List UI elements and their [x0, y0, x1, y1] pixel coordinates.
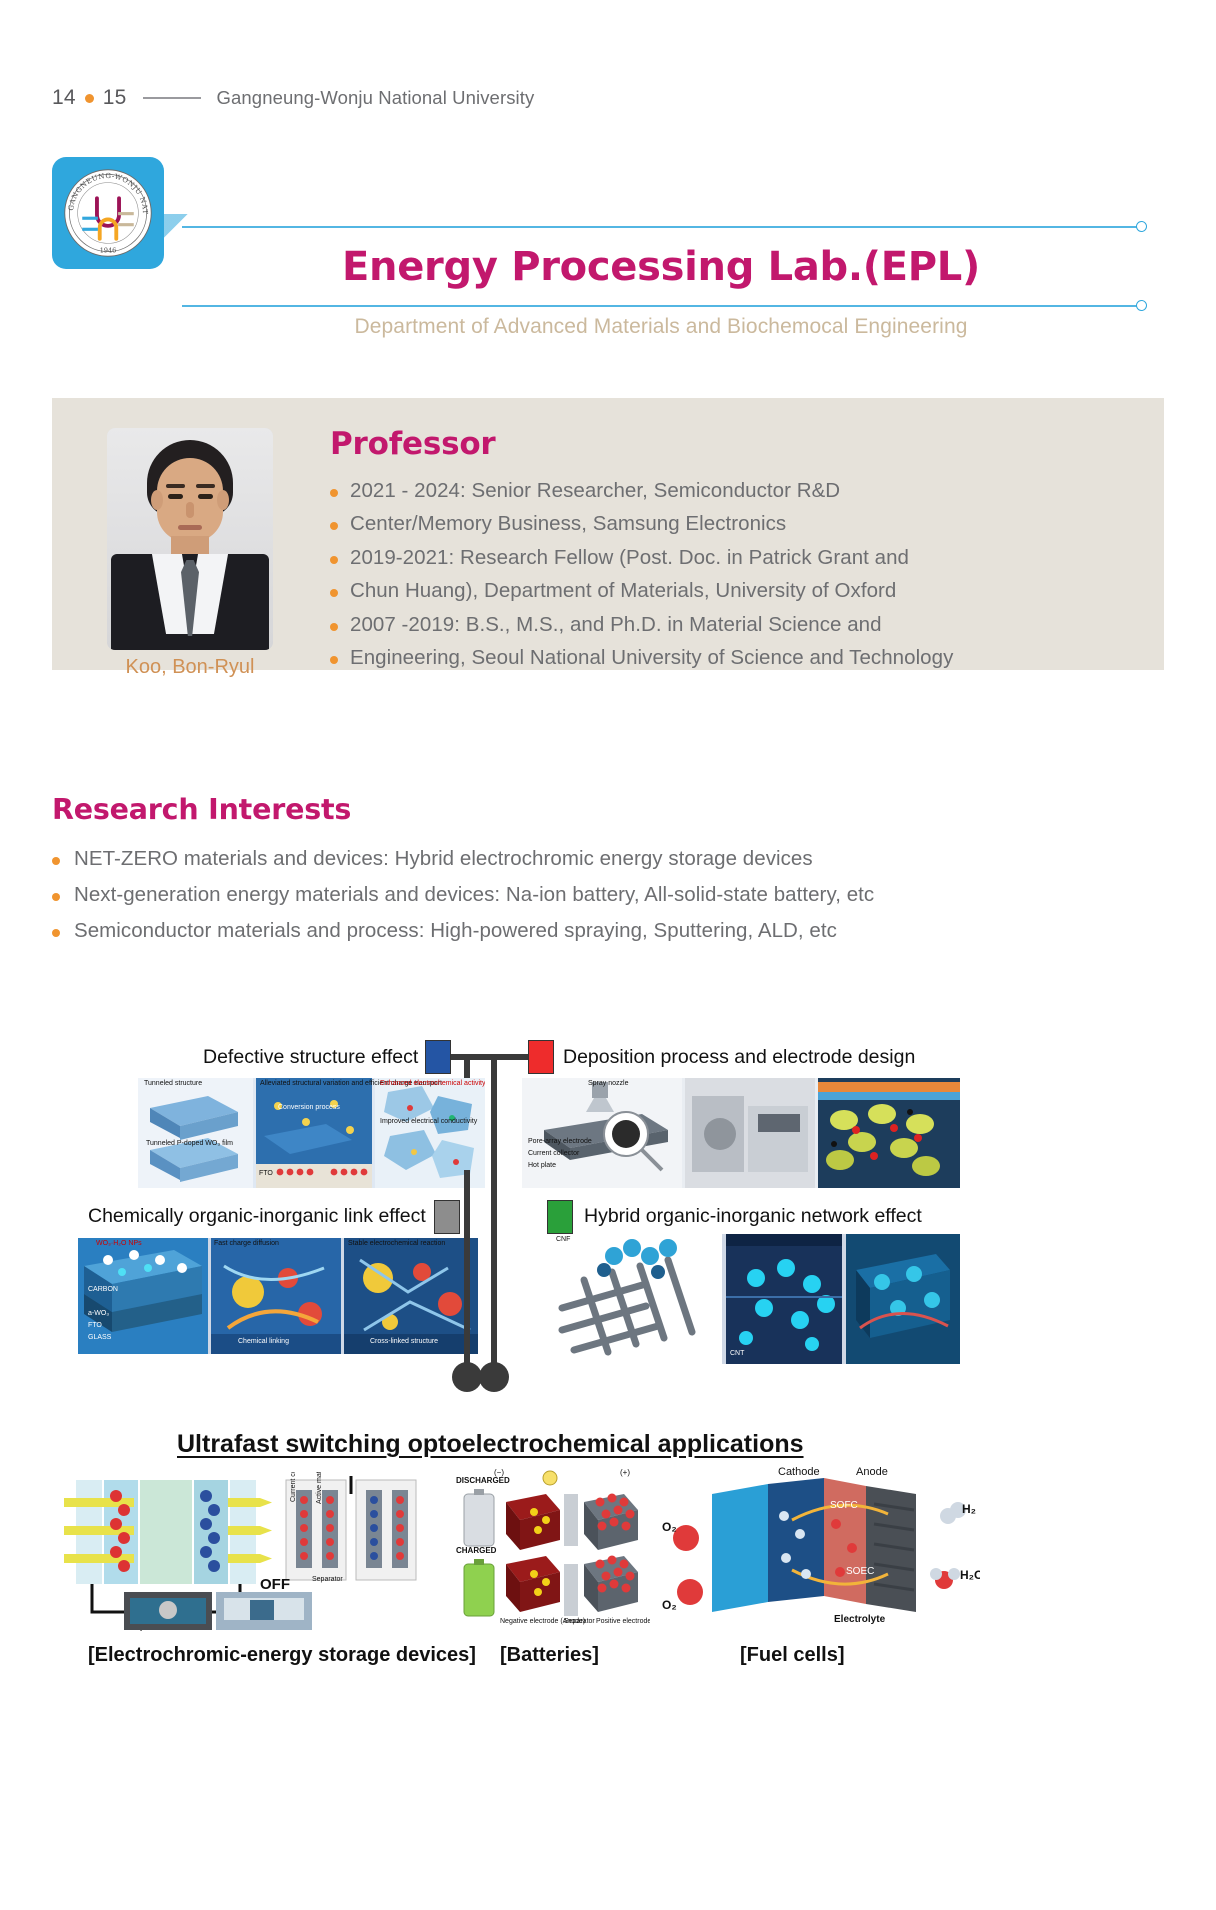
inline-label-positive-electrode: Positive electrode (Cathode) — [596, 1618, 650, 1625]
research-interests-list: NET-ZERO materials and devices: Hybrid e… — [52, 848, 1152, 956]
bio-line: Center/Memory Business, Samsung Electron… — [350, 513, 786, 536]
list-item: Semiconductor materials and process: Hig… — [52, 920, 1152, 943]
figure-image-batteries: DISCHARGED CHARGED (−) (+) Negative elec… — [450, 1468, 650, 1632]
inline-label-separator: Separator — [312, 1576, 343, 1583]
inline-label-cnt: CNT — [730, 1350, 744, 1357]
page-root: 14 15 Gangneung-Wonju National Universit… — [0, 0, 1216, 1910]
running-header: 14 15 Gangneung-Wonju National Universit… — [52, 86, 534, 110]
inline-label-chemical-linking: Chemical linking — [238, 1338, 289, 1345]
professor-name: Koo, Bon-Ryul — [92, 656, 288, 679]
inline-label-pore-array-electrode: Pore-array electrode — [528, 1138, 592, 1145]
legend-swatch-gray-icon — [434, 1200, 460, 1234]
inline-label-hot-plate: Hot plate — [528, 1162, 556, 1169]
inline-label-tunneled-structure: Tunneled structure — [144, 1080, 202, 1087]
connector-line — [464, 1170, 470, 1370]
connector-line — [491, 1186, 497, 1370]
inline-label-cathode: Cathode — [778, 1466, 820, 1478]
inline-label-improved-conductivity: Improved electrical conductivity — [380, 1118, 477, 1125]
connector-line — [491, 1054, 497, 1186]
inline-label-charged: CHARGED — [456, 1546, 496, 1555]
inline-label-current-collector: Current collector — [528, 1150, 579, 1157]
figure-image-fuel-cells: Cathode Anode SOFC SOEC Electrolyte H₂ H… — [660, 1460, 980, 1636]
inline-label-plus: (+) — [620, 1468, 630, 1477]
inline-label-discharged: DISCHARGED — [456, 1476, 510, 1485]
inline-label-current-collector-2: Current collector — [290, 1472, 297, 1502]
university-logo: GANGNEUNG-WONJU NATIONAL UNIVERSITY 1946 — [52, 157, 164, 269]
svg-text:1946: 1946 — [100, 247, 116, 255]
inline-label-o2-top: O₂ — [662, 1520, 677, 1534]
bio-line: 2019-2021: Research Fellow (Post. Doc. i… — [350, 547, 909, 570]
inline-label-tunneled-film: Tunneled P-doped WO₃ film — [146, 1140, 233, 1147]
inline-label-cnf: CNF — [556, 1236, 570, 1243]
bullet-icon — [330, 522, 338, 530]
title-rule-endpoint-bottom-icon — [1136, 300, 1147, 311]
inline-label-glass: GLASS — [88, 1334, 111, 1341]
professor-heading: Professor — [330, 426, 496, 462]
figure-caption-fuel-cells: [Fuel cells] — [740, 1644, 844, 1667]
research-interests-heading: Research Interests — [52, 793, 351, 826]
title-rule-top — [182, 226, 1140, 228]
bullet-icon — [52, 857, 60, 865]
bullet-icon — [330, 556, 338, 564]
figure-image-defective-structure: Tunneled structure Alleviated structural… — [138, 1078, 485, 1188]
list-item: Engineering, Seoul National University o… — [330, 647, 1130, 670]
bio-line: Chun Huang), Department of Materials, Un… — [350, 580, 896, 603]
professor-photo-wrap — [107, 428, 273, 650]
inline-label-anode: Anode — [856, 1466, 888, 1478]
inline-label-fto-2: FTO — [88, 1322, 102, 1329]
professor-photo — [107, 428, 273, 650]
research-interest-line: NET-ZERO materials and devices: Hybrid e… — [74, 848, 813, 871]
bio-line: Engineering, Seoul National University o… — [350, 647, 953, 670]
bullet-icon — [330, 623, 338, 631]
inline-label-electrolyte: Electrolyte — [834, 1614, 885, 1625]
professor-bio-list: 2021 - 2024: Senior Researcher, Semicond… — [330, 480, 1130, 681]
page-separator-dot-icon — [85, 94, 94, 103]
inline-label-carbon: CARBON — [88, 1286, 118, 1293]
professor-panel: Koo, Bon-Ryul Professor 2021 - 2024: Sen… — [52, 398, 1164, 670]
legend-swatch-blue-icon — [425, 1040, 451, 1074]
figure-label-chemical-link: Chemically organic-inorganic link effect — [88, 1205, 426, 1228]
connector-hub-dot-icon — [479, 1362, 509, 1392]
figure-label-deposition-process: Deposition process and electrode design — [563, 1046, 915, 1069]
list-item: Center/Memory Business, Samsung Electron… — [330, 513, 1130, 536]
inline-label-wo3-nps: WO₃·H₂O NPs — [96, 1240, 142, 1247]
list-item: Next-generation energy materials and dev… — [52, 884, 1152, 907]
title-band: GANGNEUNG-WONJU NATIONAL UNIVERSITY 1946… — [52, 157, 1164, 302]
connector-hub-dot-icon — [452, 1362, 482, 1392]
inline-label-active-materials: Active materials — [316, 1472, 323, 1504]
university-seal-icon: GANGNEUNG-WONJU NATIONAL UNIVERSITY 1946 — [62, 167, 154, 259]
bullet-icon — [330, 656, 338, 664]
inline-label-h2: H₂ — [962, 1502, 976, 1516]
lab-title: Energy Processing Lab.(EPL) — [182, 244, 1140, 290]
bullet-icon — [330, 489, 338, 497]
title-rule-endpoint-top-icon — [1136, 221, 1147, 232]
inline-label-enhanced-activity: Enhanced electrochemical activity — [380, 1080, 485, 1087]
figure-caption-batteries: [Batteries] — [500, 1644, 599, 1667]
legend-swatch-red-icon — [528, 1040, 554, 1074]
department-subtitle: Department of Advanced Materials and Bio… — [182, 315, 1140, 339]
inline-label-crosslinked: Cross-linked structure — [370, 1338, 438, 1345]
inline-label-soec: SOEC — [846, 1566, 874, 1577]
inline-label-stable-reaction: Stable electrochemical reaction — [348, 1240, 445, 1247]
list-item: 2007 -2019: B.S., M.S., and Ph.D. in Mat… — [330, 614, 1130, 637]
figure-caption-electrochromic: [Electrochromic-energy storage devices] — [88, 1644, 476, 1667]
figure-image-chemical-link: WO₃·H₂O NPs Fast charge diffusion Stable… — [78, 1238, 478, 1354]
list-item: 2021 - 2024: Senior Researcher, Semicond… — [330, 480, 1130, 503]
bullet-icon — [52, 893, 60, 901]
inline-label-off: OFF — [260, 1576, 290, 1593]
inline-label-separator-2: Separator — [564, 1618, 595, 1625]
list-item: 2019-2021: Research Fellow (Post. Doc. i… — [330, 547, 1130, 570]
figure-label-defective-structure: Defective structure effect — [203, 1046, 418, 1069]
inline-label-conversion: Conversion process — [278, 1104, 340, 1111]
list-item: Chun Huang), Department of Materials, Un… — [330, 580, 1130, 603]
inline-label-sofc: SOFC — [830, 1500, 858, 1511]
university-name: Gangneung-Wonju National University — [217, 87, 535, 109]
bio-line: 2021 - 2024: Senior Researcher, Semicond… — [350, 480, 840, 503]
inline-label-o2-bottom: O₂ — [662, 1598, 677, 1612]
figure-image-electrochromic-device: OFF Current collector Active materials S… — [64, 1472, 442, 1632]
inline-label-fto: FTO — [259, 1170, 273, 1177]
bio-line: 2007 -2019: B.S., M.S., and Ph.D. in Mat… — [350, 614, 882, 637]
research-interest-line: Semiconductor materials and process: Hig… — [74, 920, 837, 943]
bullet-icon — [330, 589, 338, 597]
figure-image-deposition-process: Spray nozzle Pore-array electrode Curren… — [522, 1078, 960, 1188]
page-number-left: 14 — [52, 86, 76, 110]
research-interest-line: Next-generation energy materials and dev… — [74, 884, 874, 907]
bullet-icon — [52, 929, 60, 937]
inline-label-minus: (−) — [494, 1468, 504, 1477]
header-rule — [143, 97, 201, 99]
inline-label-fast-charge: Fast charge diffusion — [214, 1240, 279, 1247]
research-figure: Defective structure effect Deposition pr… — [60, 1000, 1160, 1700]
inline-label-h2o: H₂O — [960, 1568, 980, 1582]
list-item: NET-ZERO materials and devices: Hybrid e… — [52, 848, 1152, 871]
figure-image-hybrid-network: CNF CNT — [550, 1234, 960, 1364]
legend-swatch-green-icon — [547, 1200, 573, 1234]
figure-section-title: Ultrafast switching optoelectrochemical … — [177, 1430, 804, 1459]
page-number-right: 15 — [103, 86, 127, 110]
figure-label-hybrid-network: Hybrid organic-inorganic network effect — [584, 1205, 922, 1228]
inline-label-a-wo3: a-WO₃ — [88, 1310, 109, 1317]
connector-line — [492, 1054, 528, 1060]
title-rule-bottom — [182, 305, 1140, 307]
inline-label-spray-nozzle: Spray nozzle — [588, 1080, 628, 1087]
